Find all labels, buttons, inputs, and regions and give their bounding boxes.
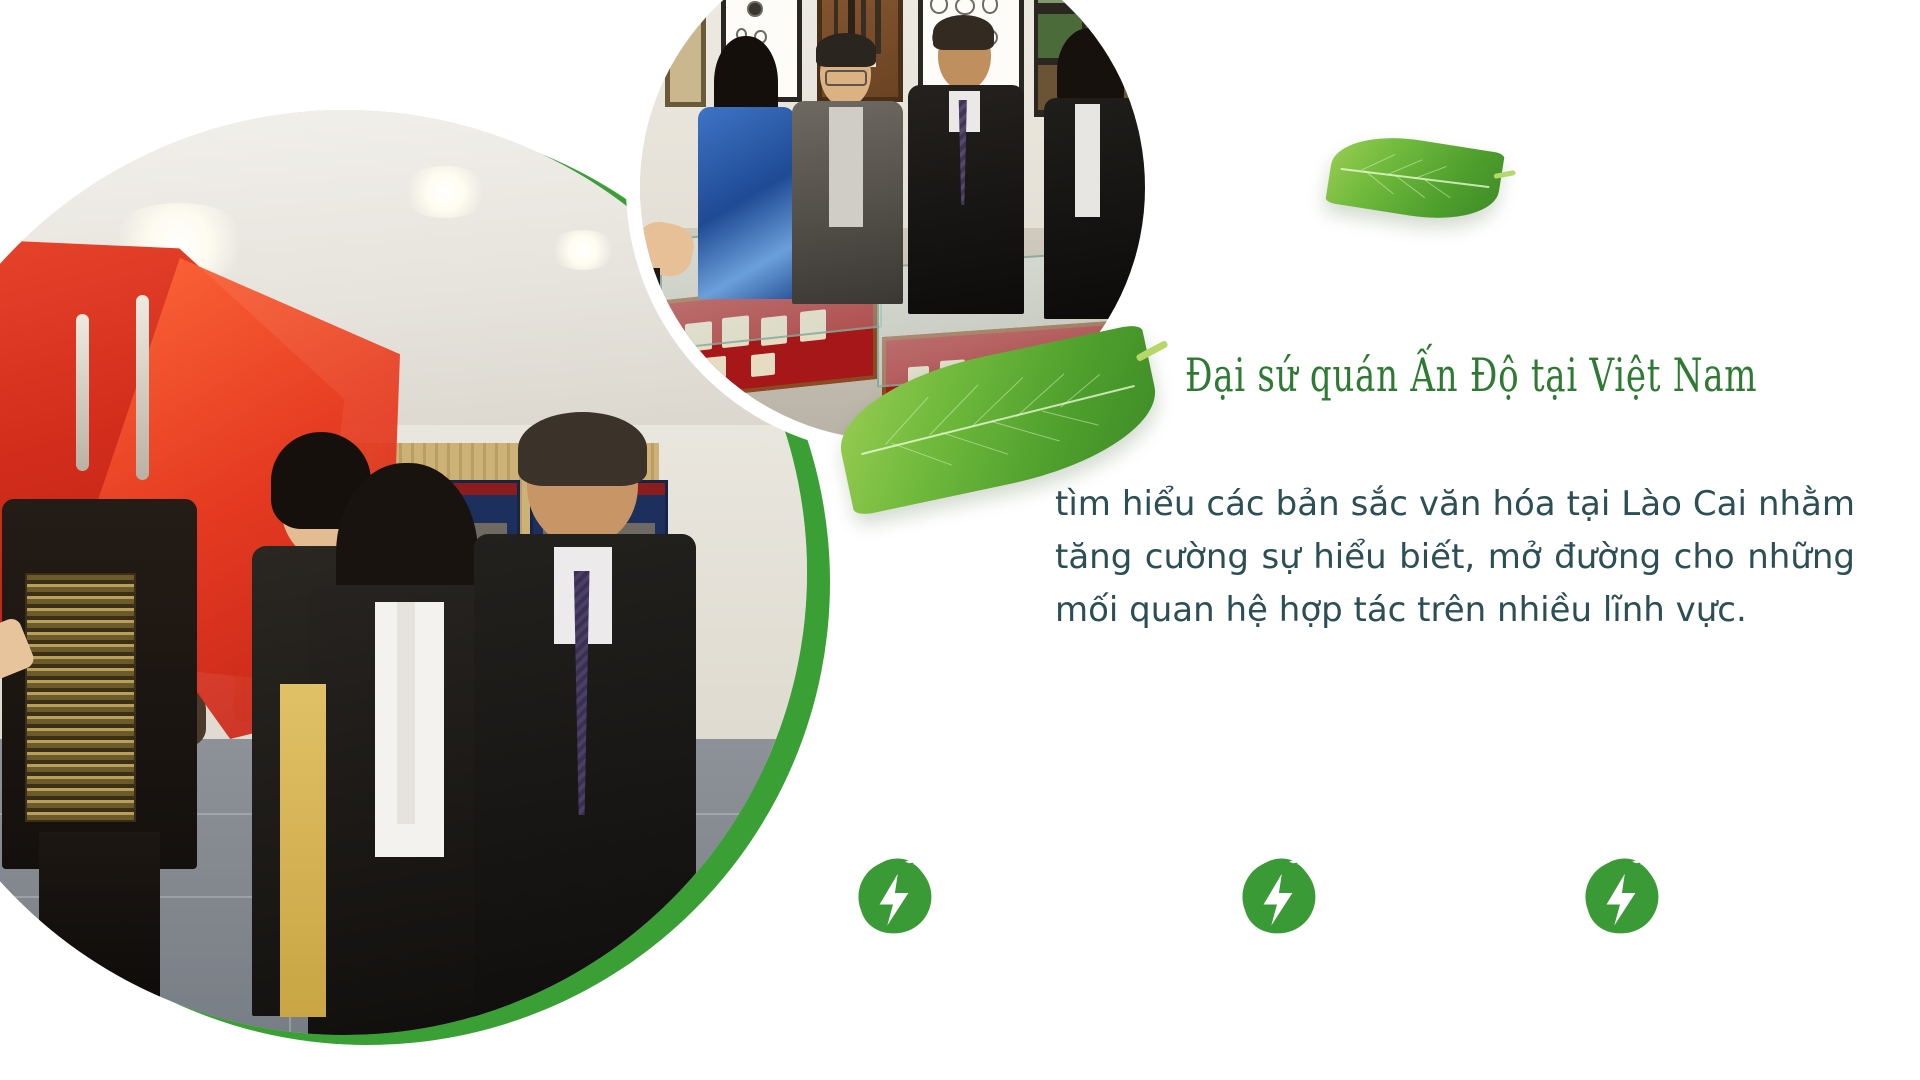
person-right	[1044, 36, 1145, 319]
eco-energy-icon[interactable]	[845, 845, 941, 941]
eco-energy-icon[interactable]	[1572, 845, 1668, 941]
gold-scarf	[280, 684, 326, 1017]
person-dark-suit	[908, 21, 1024, 314]
silver-ornament	[136, 295, 149, 480]
person-grey-suit	[792, 41, 903, 304]
body-paragraph: tìm hiểu các bản sắc văn hóa tại Lào Cai…	[1055, 478, 1855, 637]
visitor-blue	[0, 517, 30, 1035]
eco-energy-icon[interactable]	[1229, 845, 1325, 941]
visitor-man	[474, 425, 696, 1036]
person-hand	[640, 208, 701, 360]
costume-legs	[39, 832, 159, 1017]
leaf-small-top	[1325, 127, 1505, 229]
costume-apron	[25, 573, 136, 823]
ceiling-light	[400, 166, 490, 218]
page-title: Đại sứ quán Ấn Độ tại Việt Nam	[1185, 352, 1757, 398]
person-blue-ao-dai	[696, 46, 797, 299]
ceiling-light	[548, 230, 618, 270]
eco-energy-icon-row	[845, 845, 1715, 950]
silver-ornament	[76, 314, 89, 471]
slide-canvas: Đại sứ quán Ấn Độ tại Việt Nam tìm hiểu …	[0, 0, 1920, 1080]
